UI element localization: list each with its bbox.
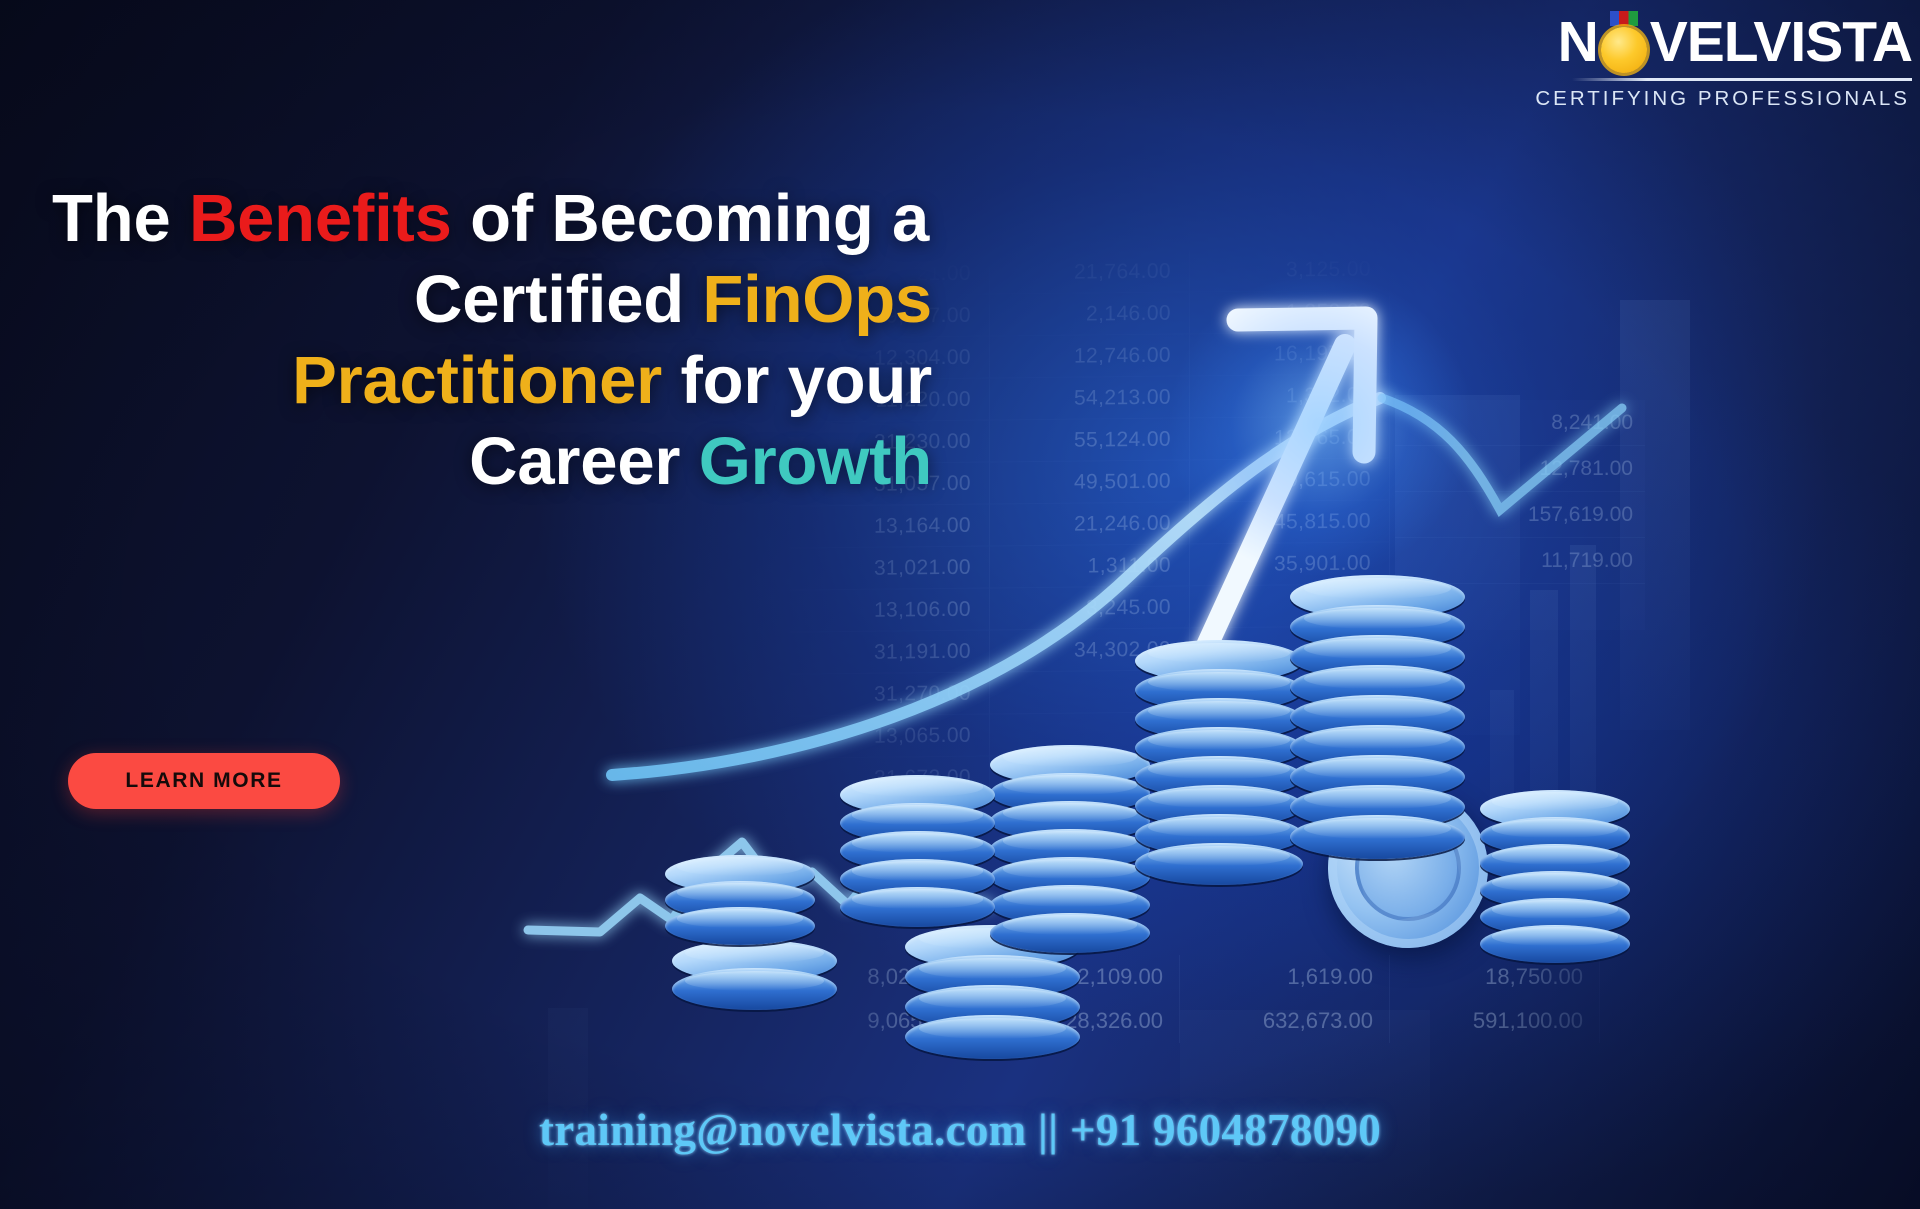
headline-line-4: Career Growth <box>52 421 932 502</box>
headline-text: Certified <box>414 262 702 337</box>
coin <box>1480 925 1630 963</box>
brand-letter-n: N <box>1558 14 1598 71</box>
headline-line-1: The Benefits of Becoming a <box>52 178 932 259</box>
coin <box>990 913 1150 953</box>
brand-wordmark: N VELVISTA <box>1520 14 1912 71</box>
brand-logo[interactable]: N VELVISTA CERTIFYING PROFESSIONALS <box>1520 14 1912 111</box>
brand-name-rest: VELVISTA <box>1650 14 1912 71</box>
headline-highlight-benefits: Benefits <box>189 181 452 256</box>
medal-disc <box>1601 27 1647 73</box>
coin <box>665 907 815 945</box>
brand-tagline: CERTIFYING PROFESSIONALS <box>1520 87 1912 111</box>
headline-text: Career <box>469 424 699 499</box>
headline-text: of Becoming a <box>452 181 929 256</box>
coin <box>1290 815 1465 859</box>
coin <box>840 887 995 927</box>
page-title: The Benefits of Becoming a Certified Fin… <box>52 178 932 502</box>
headline-text: The <box>52 181 189 256</box>
headline-highlight-finops: FinOps <box>702 262 932 337</box>
headline-highlight-growth: Growth <box>699 424 932 499</box>
headline-line-3: Practitioner for your <box>52 340 932 421</box>
learn-more-button[interactable]: LEARN MORE <box>68 753 340 809</box>
rising-curve-right <box>1382 398 1622 510</box>
coin <box>672 968 837 1010</box>
ribbon-shape <box>1610 11 1638 26</box>
logo-divider <box>1572 78 1912 81</box>
coin <box>1135 843 1303 885</box>
coin <box>905 1015 1080 1059</box>
learn-more-label: LEARN MORE <box>125 769 282 793</box>
contact-info[interactable]: training@novelvista.com || +91 960487809… <box>0 1104 1920 1156</box>
headline-highlight-practitioner: Practitioner <box>292 343 662 418</box>
promo-banner: 31,221.0021,764.003,125.009,207.002,146.… <box>0 0 1920 1209</box>
medal-icon <box>1599 21 1649 71</box>
headline-line-2: Certified FinOps <box>52 259 932 340</box>
headline-text: for your <box>662 343 932 418</box>
